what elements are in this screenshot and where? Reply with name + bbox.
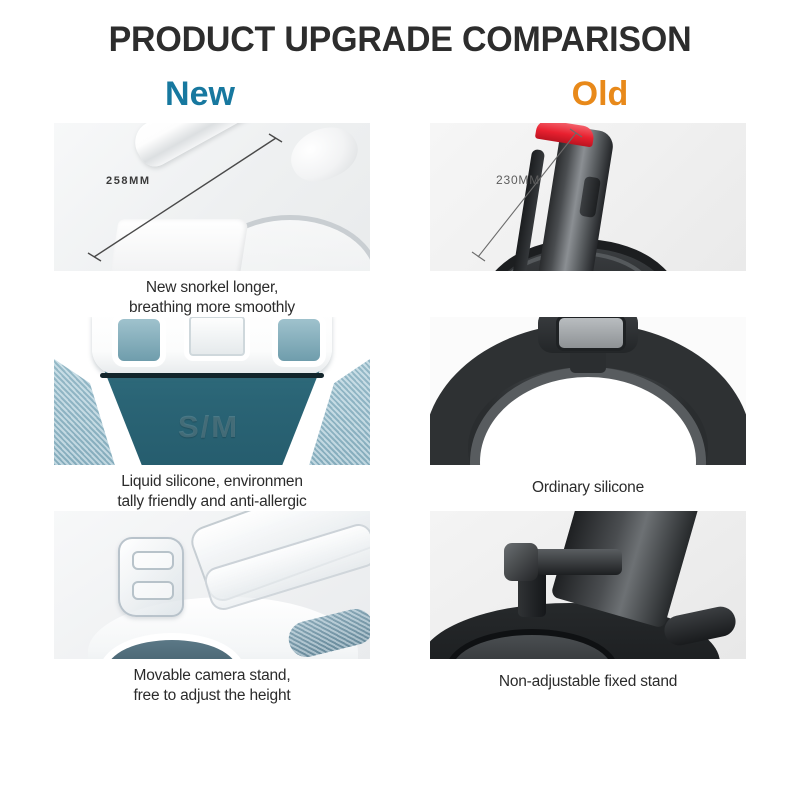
column-header-old: Old	[400, 77, 800, 111]
page-title: PRODUCT UPGRADE COMPARISON	[12, 0, 788, 57]
comparison-row-silicone-material: S/M Liquid silicone, environmen tally fr…	[0, 317, 800, 511]
caption-line-1: Movable camera stand,	[54, 666, 370, 686]
product-photo-old-silicone	[430, 317, 746, 465]
comparison-row-camera-stand: Movable camera stand, free to adjust the…	[0, 511, 800, 705]
mask-window-shape	[556, 317, 626, 351]
cell-new-snorkel-length: 258MM New snorkel longer, breathing more…	[54, 123, 370, 317]
caption-line-2: free to adjust the height	[54, 686, 370, 706]
caption-new-silicone: Liquid silicone, environmen tally friend…	[54, 465, 370, 511]
cell-old-snorkel-length: 230MM	[430, 123, 746, 317]
caption-line-2: tally friendly and anti-allergic	[54, 492, 370, 512]
snorkel-tip-shape	[282, 123, 365, 191]
size-embossed-label: S/M	[178, 409, 239, 445]
vent-center-shape	[184, 317, 250, 361]
comparison-row-snorkel-length: 258MM New snorkel longer, breathing more…	[0, 123, 800, 317]
caption-new-camera-stand: Movable camera stand, free to adjust the…	[54, 659, 370, 705]
caption-line-1: New snorkel longer,	[54, 278, 370, 298]
mask-tab-shape	[570, 353, 606, 373]
caption-old-silicone: Ordinary silicone	[430, 465, 746, 511]
snorkel-old-artwork	[430, 123, 746, 271]
cell-new-silicone: S/M Liquid silicone, environmen tally fr…	[54, 317, 370, 511]
caption-old-camera-stand: Non-adjustable fixed stand	[430, 659, 746, 705]
cell-new-camera-stand: Movable camera stand, free to adjust the…	[54, 511, 370, 705]
product-photo-new-snorkel: 258MM	[54, 123, 370, 271]
silicone-new-artwork: S/M	[54, 317, 370, 465]
product-photo-new-camera-stand	[54, 511, 370, 659]
silicone-old-artwork	[430, 317, 746, 465]
caption-line-1: Non-adjustable fixed stand	[499, 672, 677, 692]
snorkel-new-artwork	[54, 123, 370, 271]
product-photo-old-camera-stand	[430, 511, 746, 659]
camera-stand-old-artwork	[430, 511, 746, 659]
cell-old-silicone: Ordinary silicone	[430, 317, 746, 511]
product-comparison-infographic: PRODUCT UPGRADE COMPARISON New Old	[0, 0, 800, 800]
comparison-rows: 258MM New snorkel longer, breathing more…	[0, 123, 800, 705]
caption-line-1: Liquid silicone, environmen	[54, 472, 370, 492]
vent-left-icon	[112, 317, 166, 367]
caption-old-snorkel-length	[430, 271, 746, 317]
snorkel-base-shape	[109, 219, 249, 271]
product-photo-old-snorkel: 230MM	[430, 123, 746, 271]
dimension-label-new: 258MM	[106, 175, 151, 187]
caption-line-1: Ordinary silicone	[532, 478, 644, 498]
column-headers: New Old	[0, 77, 800, 111]
vent-right-icon	[272, 317, 326, 367]
caption-new-snorkel-length: New snorkel longer, breathing more smoot…	[54, 271, 370, 317]
cell-old-camera-stand: Non-adjustable fixed stand	[430, 511, 746, 705]
column-header-new: New	[0, 77, 400, 111]
dimension-label-old: 230MM	[496, 173, 540, 187]
camera-mount-knob-shape	[504, 543, 538, 581]
caption-line-2: breathing more smoothly	[54, 298, 370, 318]
camera-mount-shape	[118, 537, 184, 617]
product-photo-new-silicone: S/M	[54, 317, 370, 465]
camera-stand-new-artwork	[54, 511, 370, 659]
